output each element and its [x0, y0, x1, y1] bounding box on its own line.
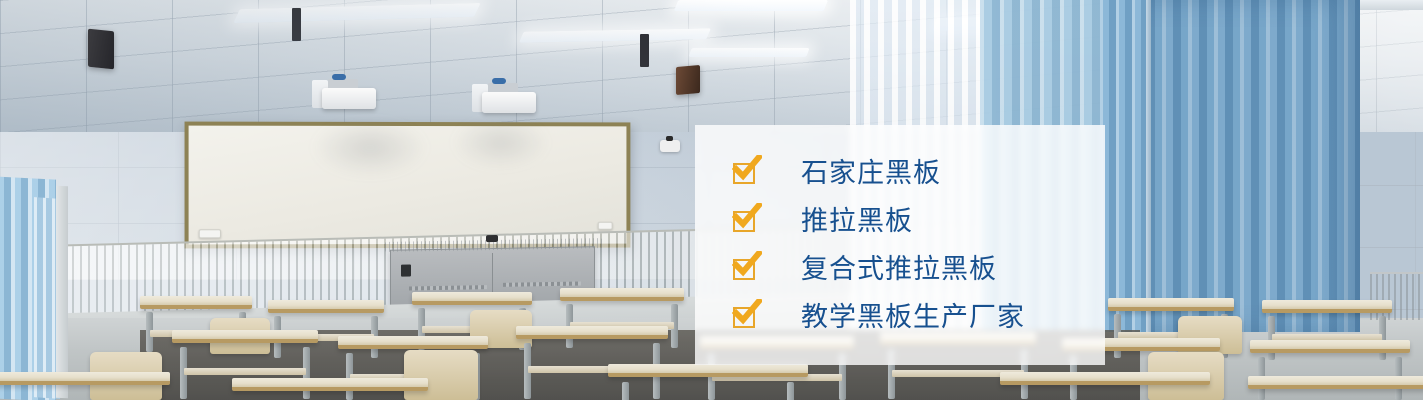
whiteboard-glare — [453, 117, 549, 169]
desk-top — [1108, 298, 1234, 311]
desk-top — [1262, 300, 1392, 313]
desk-leg — [622, 382, 629, 400]
student-desk — [1000, 372, 1210, 400]
feature-label: 复合式推拉黑板 — [801, 256, 997, 283]
desk-top — [0, 372, 170, 385]
checkmark-glyph — [732, 203, 762, 231]
wall-pillar — [56, 186, 68, 398]
desk-top — [516, 326, 668, 339]
feature-item[interactable]: 石家庄黑板 — [733, 149, 1105, 197]
orange-checkbox-icon — [733, 305, 759, 329]
orange-checkbox-icon — [733, 209, 759, 233]
classroom-hero-banner: 石家庄黑板 推拉黑板 复合式推拉黑板 — [0, 0, 1423, 400]
desk-top — [140, 296, 252, 309]
whiteboard-glare — [312, 119, 426, 176]
student-desk — [608, 364, 808, 400]
desk-top — [412, 292, 532, 305]
feature-item[interactable]: 教学黑板生产厂家 — [733, 293, 1105, 341]
desk-leg — [787, 382, 794, 400]
wall-projector — [482, 92, 536, 113]
wall-speaker — [676, 65, 700, 95]
desk-top — [1250, 340, 1410, 353]
desk-shelf — [184, 368, 306, 375]
ceiling-speaker — [88, 29, 114, 70]
feature-list-overlay: 石家庄黑板 推拉黑板 复合式推拉黑板 — [695, 125, 1105, 365]
checkmark-glyph — [732, 155, 762, 183]
window-frame — [1146, 0, 1151, 332]
student-desk — [1248, 376, 1423, 400]
feature-label: 推拉黑板 — [801, 208, 913, 235]
feature-item[interactable]: 复合式推拉黑板 — [733, 245, 1105, 293]
desk-top — [1000, 372, 1210, 385]
podium-switch — [401, 264, 411, 276]
desk-top — [1248, 376, 1423, 389]
desk-top — [560, 288, 684, 301]
podium-vent — [409, 285, 487, 290]
wall-projector — [322, 88, 376, 109]
student-desk — [232, 378, 428, 400]
feature-item[interactable]: 推拉黑板 — [733, 197, 1105, 245]
whiteboard-surface — [189, 126, 627, 245]
orange-checkbox-icon — [733, 257, 759, 281]
feature-label: 石家庄黑板 — [801, 160, 941, 187]
orange-checkbox-icon — [733, 161, 759, 185]
desk-top — [232, 378, 428, 391]
podium-knob — [486, 235, 498, 242]
checkmark-glyph — [732, 299, 762, 327]
podium-vent — [503, 281, 581, 286]
student-desk — [0, 372, 170, 400]
board-eraser — [598, 222, 613, 230]
desk-top — [172, 330, 318, 343]
whiteboard — [185, 122, 631, 249]
window-curtain — [1100, 0, 1148, 332]
desk-top — [608, 364, 808, 377]
desk-top — [268, 300, 384, 313]
board-eraser — [199, 229, 221, 238]
feature-label: 教学黑板生产厂家 — [801, 304, 1025, 331]
desk-top — [338, 336, 488, 349]
checkmark-glyph — [732, 251, 762, 279]
wall-camera-icon — [660, 140, 680, 152]
